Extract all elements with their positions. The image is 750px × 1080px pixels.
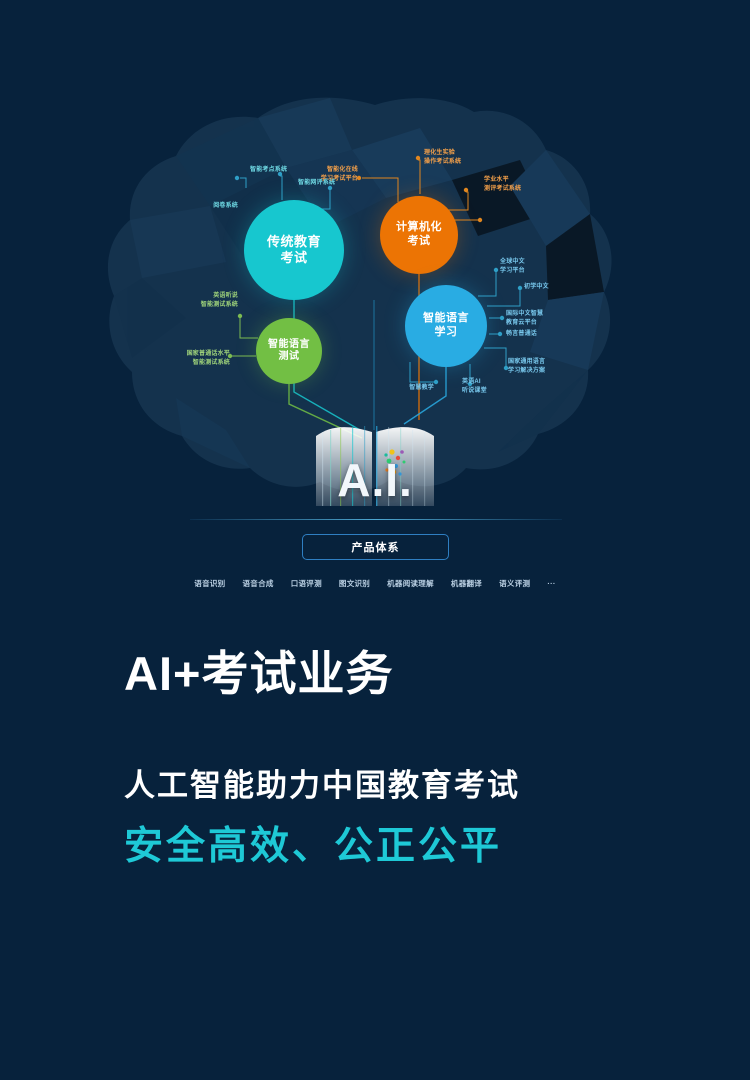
node-label-line1: 智能语言: [423, 312, 469, 326]
node-traditional-education-exam[interactable]: 传统教育 考试: [244, 200, 344, 300]
keyword-item: 语音识别: [194, 578, 225, 589]
promo-page: 传统教育 考试 计算机化 考试 智能语言 学习 智能语言 测试 阅卷系统 智能考…: [0, 0, 750, 1080]
node-label-line2: 测试: [279, 351, 300, 364]
keyword-item: 语义评测: [499, 578, 530, 589]
node-intelligent-language-learning[interactable]: 智能语言 学习: [405, 285, 487, 367]
leaf-label-national-language-learning-solution: 国家通用语言 学习解决方案: [508, 358, 572, 375]
subtitle: 人工智能助力中国教育考试: [124, 768, 750, 804]
capability-keyword-list: 语音识别 语音合成 口语评测 图文识别 机器阅读理解 机器翻译 语义评测 ···: [150, 578, 600, 589]
leaf-label-smart-exam-site-system: 智能考点系统: [250, 166, 306, 175]
node-label-line2: 考试: [280, 250, 307, 266]
marketing-copy: AI+考试业务 人工智能助力中国教育考试 安全高效、公正公平: [0, 648, 750, 870]
leaf-label-academic-level-assessment-system: 学业水平 测评考试系统: [484, 176, 546, 193]
leaf-label-beginner-chinese: 初学中文: [524, 283, 574, 292]
node-computerized-exam[interactable]: 计算机化 考试: [380, 196, 458, 274]
leaf-label-english-ai-listening-speaking-class: 英语AI 听说课堂: [462, 378, 508, 395]
node-label-line2: 学习: [435, 326, 458, 340]
leaf-label-international-chinese-smart-education-cloud: 国际中文智慧 教育云平台: [506, 310, 568, 327]
leaf-label-english-listening-speaking-test-system: 英语听说 智能测试系统: [184, 292, 238, 309]
ai-logo-text: A.I.: [316, 452, 434, 508]
product-system-pill[interactable]: 产品体系: [302, 534, 449, 560]
hero-illustration: 传统教育 考试 计算机化 考试 智能语言 学习 智能语言 测试 阅卷系统 智能考…: [0, 0, 750, 640]
keyword-item: 图文识别: [339, 578, 370, 589]
keyword-item: 口语评测: [291, 578, 322, 589]
leaf-label-global-chinese-learning-platform: 全球中文 学习平台: [500, 258, 556, 275]
leaf-label-experiment-operation-exam-system: 理化生实验 操作考试系统: [424, 149, 484, 166]
keyword-item: 机器阅读理解: [387, 578, 434, 589]
leaf-label-national-mandarin-level-test-system: 国家普通话水平 智能测试系统: [170, 350, 230, 367]
node-intelligent-language-testing[interactable]: 智能语言 测试: [256, 318, 322, 384]
ground-line: [190, 519, 562, 520]
page-title: AI+考试业务: [124, 648, 750, 700]
keyword-item: 机器翻译: [451, 578, 482, 589]
node-label-line2: 考试: [408, 235, 431, 249]
leaf-label-marking-system: 阅卷系统: [198, 202, 238, 211]
leaf-label-smart-teaching: 智慧教学: [398, 384, 434, 393]
node-label-line1: 智能语言: [268, 339, 310, 352]
leaf-label-changyan-mandarin: 畅言普通话: [506, 330, 562, 339]
tagline: 安全高效、公正公平: [124, 825, 750, 870]
keyword-item: 语音合成: [242, 578, 273, 589]
keyword-ellipsis: ···: [547, 579, 555, 588]
node-label-line1: 计算机化: [396, 221, 442, 235]
leaf-label-online-learning-exam-platform: 智能化在线 学习考试平台: [300, 166, 358, 183]
node-label-line1: 传统教育: [267, 234, 321, 250]
